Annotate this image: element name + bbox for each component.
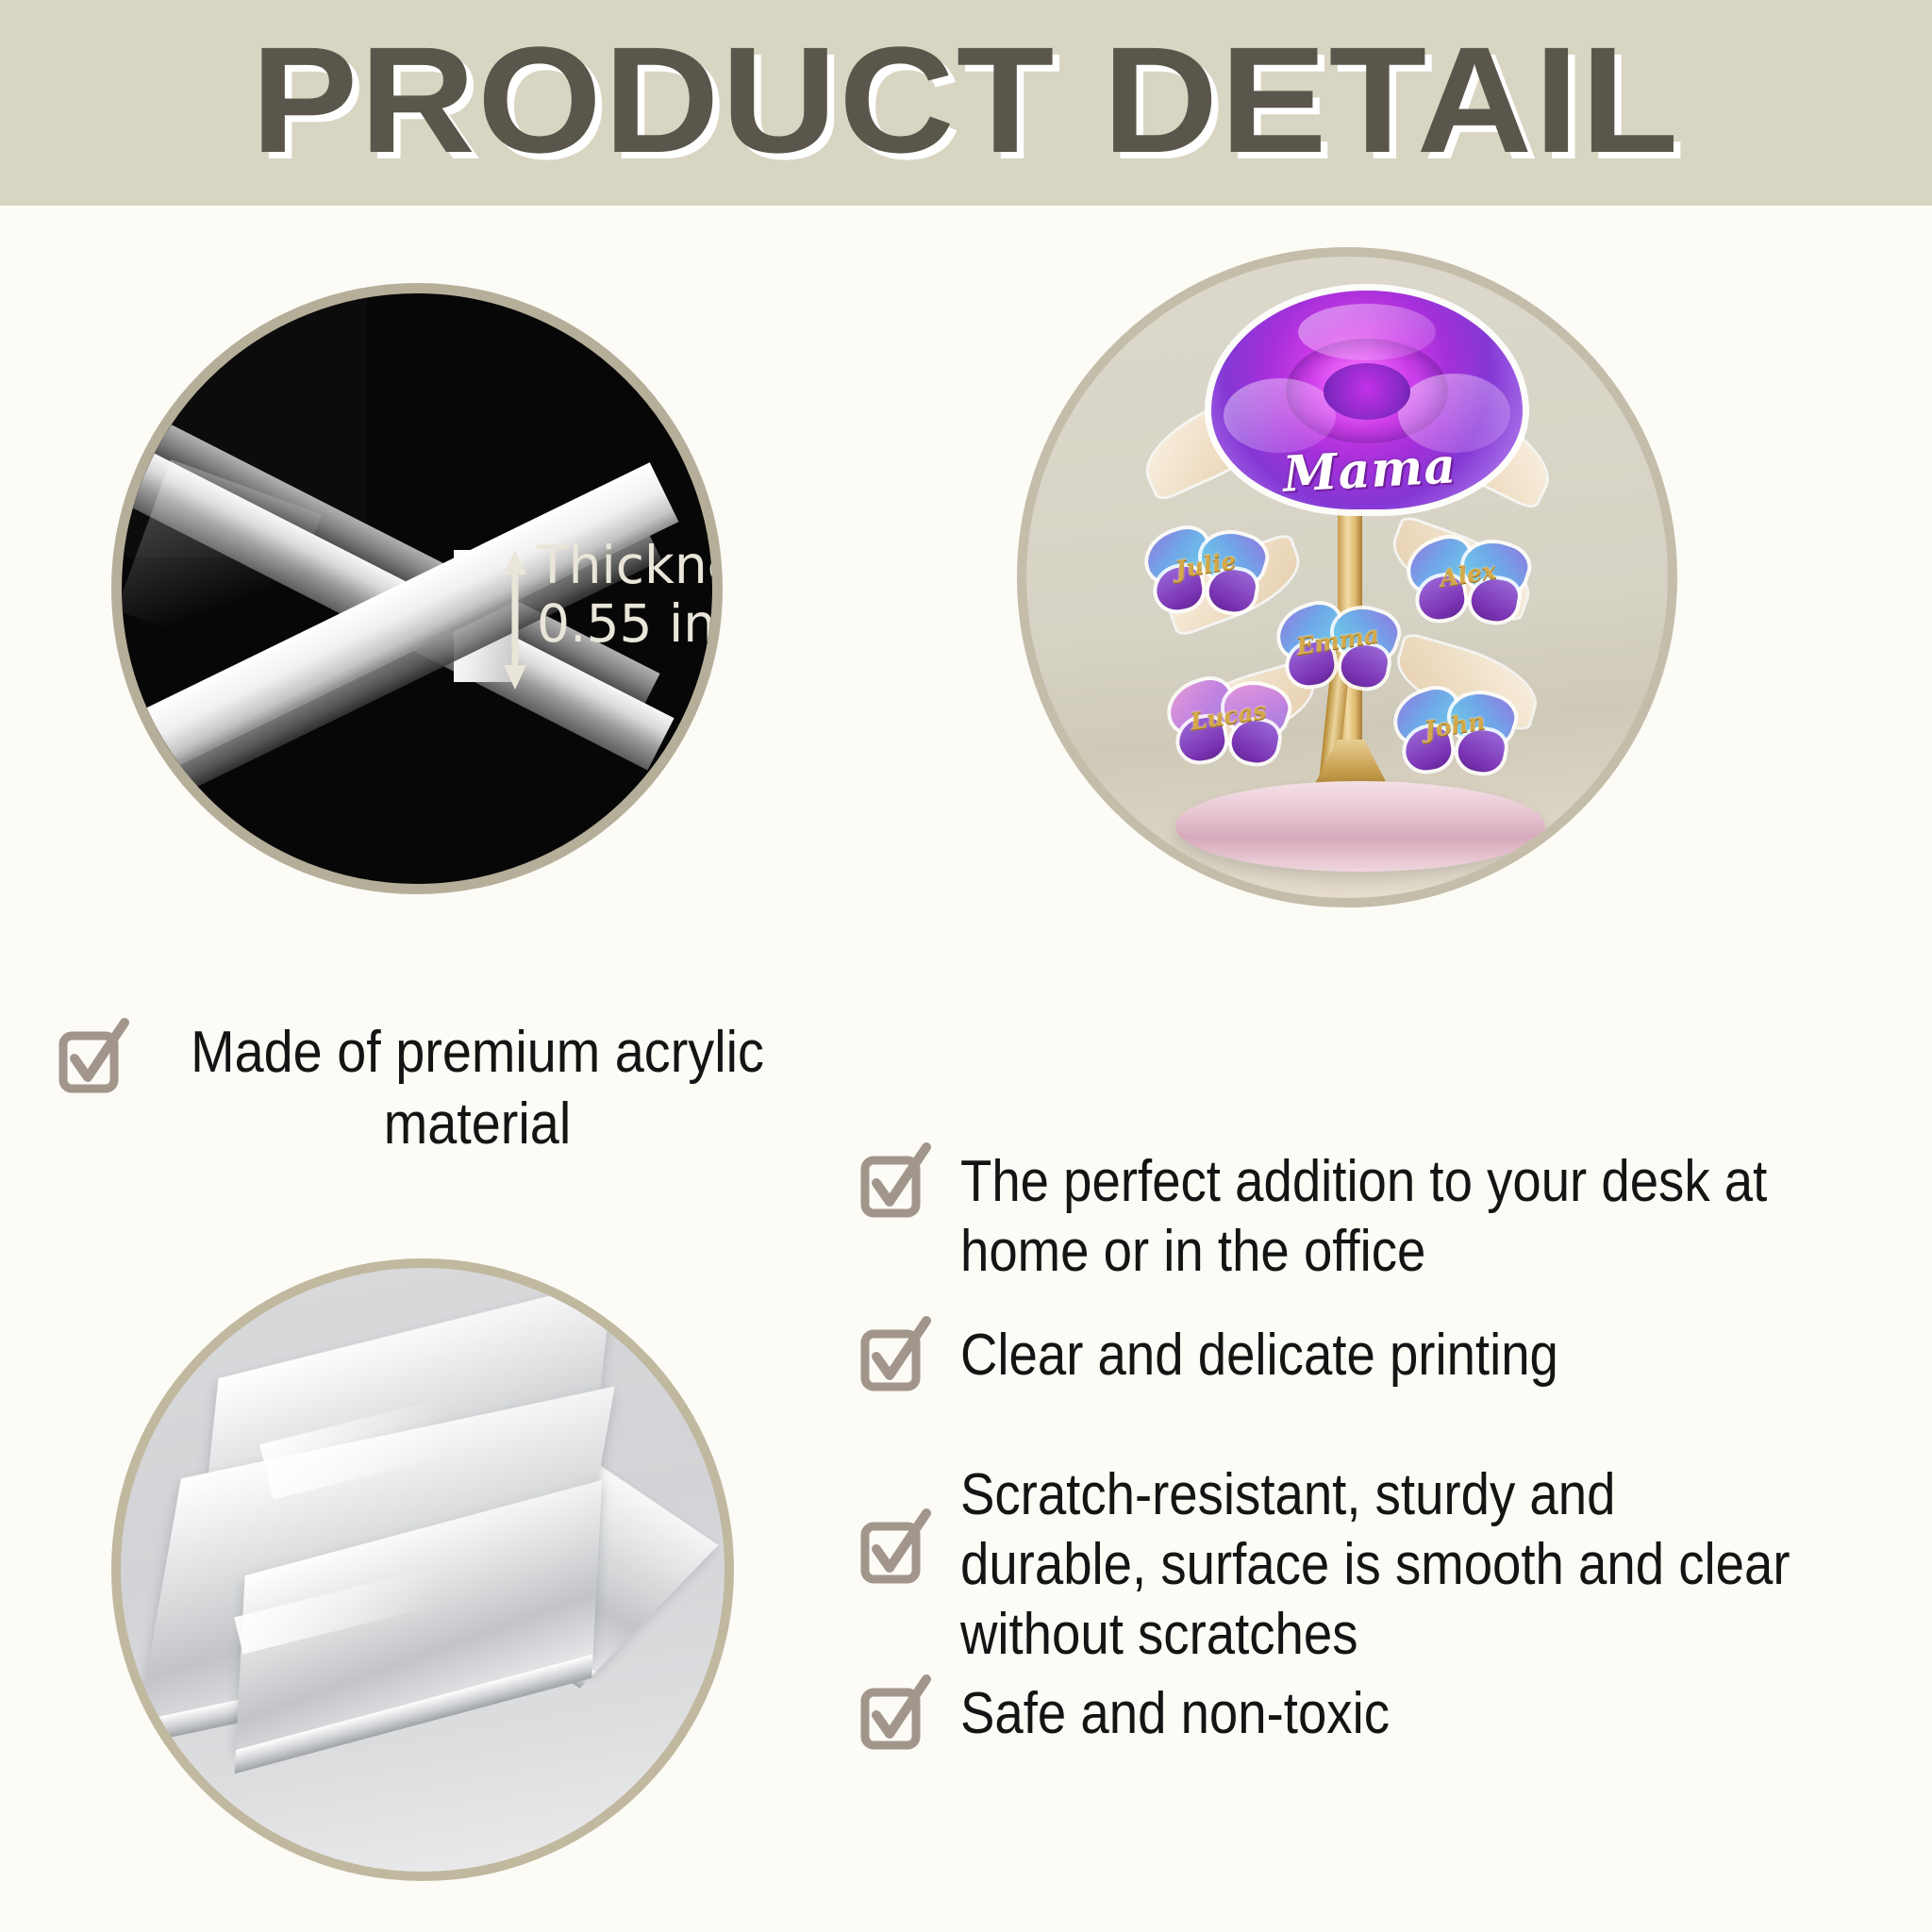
checkmark-icon [860, 1321, 928, 1394]
thickness-line-1: Thickness [537, 535, 712, 595]
butterfly-lucas: Lucas [1170, 683, 1287, 766]
checkmark-icon [860, 1147, 928, 1221]
ornament-base [1175, 781, 1545, 872]
feature-label: Made of premium acrylic material [155, 1017, 800, 1159]
feature-label: The perfect addition to your desk at hom… [960, 1147, 1802, 1287]
feature-desk-addition: The perfect addition to your desk at hom… [860, 1147, 1917, 1287]
thickness-callout-label: Thickness0.55 in [537, 537, 712, 653]
thickness-photo-inner: Thickness0.55 in [122, 293, 712, 884]
butterfly-john: John [1396, 692, 1513, 775]
vertical-double-arrow-icon [503, 550, 527, 690]
butterfly-emma: Emma [1279, 608, 1396, 691]
feature-clear-printing: Clear and delicate printing [860, 1321, 1917, 1394]
feature-premium-acrylic: Made of premium acrylic material [58, 1017, 908, 1159]
checkmark-icon [860, 1513, 928, 1587]
butterfly-julie: Julie [1147, 532, 1264, 615]
checkmark-icon [58, 1023, 126, 1096]
feature-label: Safe and non-toxic [960, 1679, 1802, 1749]
sheets-photo [111, 1258, 734, 1881]
thickness-line-2: 0.55 in [537, 593, 712, 654]
checkmark-icon [860, 1679, 928, 1753]
feature-label: Scratch-resistant, sturdy and durable, s… [960, 1460, 1802, 1669]
product-photo: Mama Julie Alex Emma Lucas John [1017, 247, 1677, 908]
feature-safe-non-toxic: Safe and non-toxic [860, 1679, 1917, 1753]
header-band: PRODUCT DETAIL [0, 0, 1932, 206]
feature-label: Clear and delicate printing [960, 1321, 1802, 1391]
butterfly-alex: Alex [1409, 541, 1526, 625]
photo-edge-notch [1651, 740, 1672, 791]
thickness-photo: Thickness0.55 in [111, 283, 723, 894]
feature-scratch-resistant: Scratch-resistant, sturdy and durable, s… [860, 1460, 1917, 1669]
page-title: PRODUCT DETAIL [251, 25, 1680, 175]
